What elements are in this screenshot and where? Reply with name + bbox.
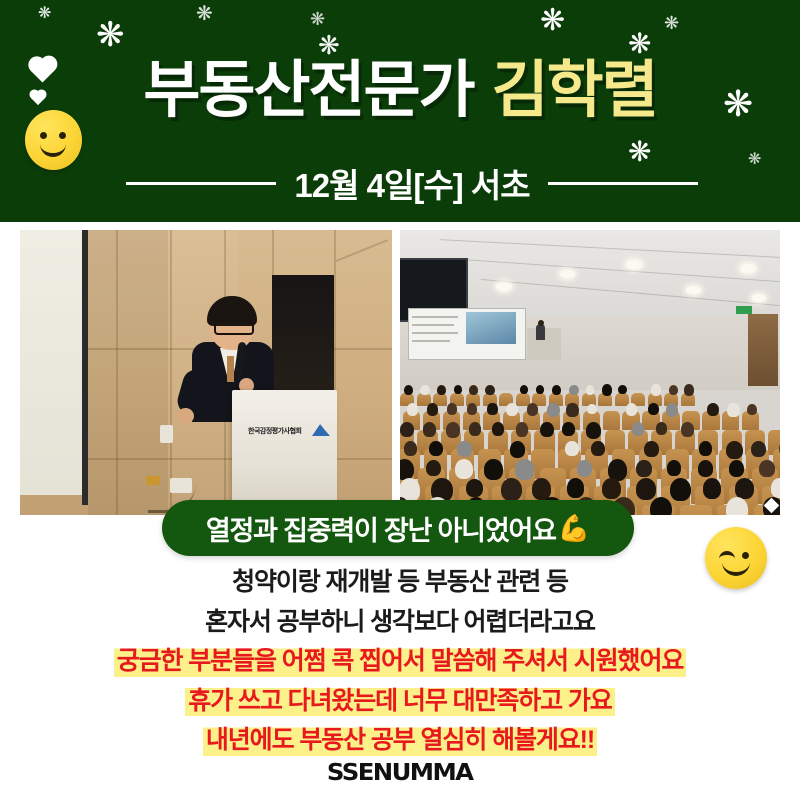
audience-head [446,422,461,438]
audience-head [707,403,719,416]
audience-head [407,403,418,415]
divider-left [126,182,276,185]
event-date-text: 12월 4일[수] 서초 [294,159,529,207]
speaker-tie [227,356,234,382]
audience-head [423,422,436,437]
audience-head [506,403,518,416]
audience-head [636,478,656,500]
audience-head [562,422,575,436]
ceiling-light [560,270,575,278]
wall-seam [116,230,118,515]
exit-sign [736,306,752,314]
speaker-hand-left [177,408,194,424]
wall-panel [88,230,168,515]
audience-head [454,385,462,394]
audience-head [516,422,529,436]
audience-head [729,460,744,477]
audience-head [492,422,504,435]
ceiling-light [496,282,512,291]
audience-head [404,385,413,395]
page-title-name: 김학렬 [492,60,657,122]
audience-head [602,478,621,499]
snowflake-icon: ❋ [540,6,565,36]
audience-head [520,385,528,394]
audience-head [591,441,605,456]
poster-card: ❋❋❋❋❋❋❋❋❋❋❋ 부동산전문가 김학렬 12월 4일[수] 서초 [0,0,800,800]
audience-head [577,460,592,477]
stage-speaker-head [538,320,544,326]
audience-seat [603,411,620,430]
doorway [272,275,334,405]
audience-head [651,384,662,396]
testimonial-line-highlighted: 휴가 쓰고 다녀왔는데 너무 대만족하고 가요 [185,684,614,720]
divider-right [548,182,698,185]
slide-text-line [412,324,454,326]
audience-head [427,403,438,416]
brand-logo: SSENUMMA [327,760,473,786]
snowflake-icon: ❋ [310,10,325,28]
audience-head [648,403,659,415]
slide-image [466,312,516,344]
audience-head [429,441,442,456]
audience-head [540,422,554,437]
audience-head [565,441,578,456]
speaker-glasses [214,320,254,335]
audience-head [602,384,612,396]
testimonial-line-highlighted: 궁금한 부분들을 어쩜 콕 찝어서 말씀해 주셔서 시원했어요 [114,644,687,680]
audience-head [487,403,497,414]
audience-head [681,422,694,437]
audience-head [727,403,739,417]
podium [232,390,337,512]
testimonial-line-highlighted: 내년에도 부동산 공부 열심히 해볼게요!! [203,723,597,759]
stage-speaker [536,324,545,340]
audience-head [699,441,712,456]
slide-text-line [412,340,450,342]
snowflake-icon: ❋ [196,4,213,24]
audience-head [644,441,658,457]
projection-screen [20,230,82,495]
audience-head [426,460,441,477]
audience-head [404,441,417,456]
testimonial-line: 청약이랑 재개발 등 부동산 관련 등 [232,565,568,601]
audience-head [515,459,533,479]
poster-title-row: 부동산전문가 김학렬 [0,48,800,134]
audience-head [566,403,578,417]
event-date-row: 12월 4일[수] 서초 [0,160,800,206]
screen-edge [82,230,88,505]
wall-seam [170,230,172,515]
audience-head [587,404,597,415]
audience-head [552,385,561,395]
audience-head [469,385,478,395]
page-title-main: 부동산전문가 [143,60,473,122]
audience-head [467,403,477,415]
photo-speaker-at-podium: 한국감정평가사협회 [20,230,392,515]
audience-head [670,478,691,502]
audience-head [618,385,627,395]
audience-head [567,478,584,497]
audience-head [420,385,430,396]
audience-head [636,460,652,477]
audience-head [626,403,637,415]
ceiling-light [626,260,642,269]
audience-head [759,460,774,477]
photo-strip: 한국감정평가사협회 [20,230,780,515]
audience-head [485,385,495,396]
audience-head [569,385,579,396]
audience-head [466,479,482,497]
audience-head [698,460,713,477]
flexed-biceps-emoji: 💪 [558,515,590,541]
audience-head [666,403,679,417]
poster-header: ❋❋❋❋❋❋❋❋❋❋❋ 부동산전문가 김학렬 12월 4일[수] 서초 [0,0,800,222]
audience-head [735,478,754,499]
audience-head [447,403,458,415]
audience-head [457,441,471,457]
podium-logo-text: 한국감정평가사협회 [248,426,310,442]
testimonial-text-block: 청약이랑 재개발 등 부동산 관련 등혼자서 공부하니 생각보다 어렵더라고요궁… [0,565,800,759]
audience-head [400,422,414,438]
audience-head [747,404,757,415]
audience-seat [680,505,712,515]
audience-head [667,460,682,477]
audience-head [437,385,446,395]
audience-head [527,403,538,415]
highlight-banner-text: 열정과 집중력이 장난 아니었어요 [206,509,556,548]
audience-head [484,459,502,480]
ceiling-light [740,264,756,273]
slide-text-line [412,316,458,318]
audience-head [779,441,780,456]
audience-head [751,441,766,458]
highlight-banner: 열정과 집중력이 장난 아니었어요 💪 [162,500,634,556]
audience-crowd [400,380,780,515]
audience-head [455,459,473,479]
ceiling-light [752,294,766,302]
audience-head [703,478,722,499]
audience-head [684,384,694,396]
testimonial-line: 혼자서 공부하니 생각보다 어렵더라고요 [205,605,595,641]
snowflake-icon: ❋ [96,18,125,52]
ceiling-light [686,286,701,294]
photo-audience-hall [400,230,780,515]
power-plug [146,476,160,485]
audience-head [586,385,595,395]
audience-head [510,441,526,458]
snowflake-icon: ❋ [38,6,51,22]
audience-head [656,422,668,435]
audience-head [501,478,522,501]
audience-head [669,385,679,396]
audience-head [536,385,544,394]
brand-footer: SSENUMMA [0,756,800,790]
snowflake-icon: ❋ [664,14,679,32]
brand-logo-suffix: A [455,760,472,786]
audience-head [726,441,743,460]
smiley-mouth [40,140,66,157]
brand-logo-text: SSENUMM [327,760,455,786]
audience-head [400,459,414,480]
slide-text-line [412,332,458,334]
audience-head [469,422,481,435]
audience-head [632,422,644,435]
audience-head [771,478,780,498]
audience-head [547,403,560,417]
audience-head [586,422,601,439]
hall-door [748,314,778,386]
wall-socket [160,425,173,443]
